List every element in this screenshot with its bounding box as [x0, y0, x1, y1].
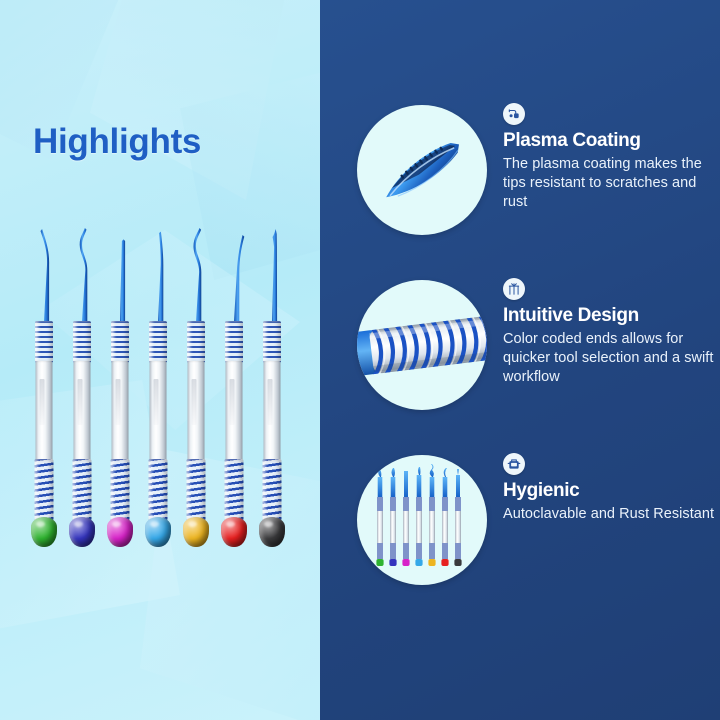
- instrument-row: [30, 225, 295, 570]
- feature-title: Plasma Coating: [503, 130, 715, 152]
- instrument-lower-collar: [263, 459, 282, 521]
- feature-hygienic: Hygienic Autoclavable and Rust Resistant: [320, 455, 720, 605]
- instrument-upper-collar: [111, 321, 129, 363]
- feature-text-block: Hygienic Autoclavable and Rust Resistant: [503, 453, 715, 524]
- photo-knurled-handle: [357, 280, 487, 410]
- instrument-lower-collar: [149, 459, 168, 521]
- left-panel: Highlights: [0, 0, 320, 720]
- instrument-tip: [115, 225, 126, 325]
- instrument-color-cap: [221, 517, 247, 547]
- instrument-shaft: [188, 361, 205, 461]
- feature-description: Autoclavable and Rust Resistant: [503, 505, 715, 524]
- instrument-lower-collar: [111, 459, 130, 521]
- photo-instrument-set: [357, 455, 487, 585]
- instrument-lower-collar: [225, 459, 244, 521]
- infographic-canvas: Highlights: [0, 0, 720, 720]
- instrument-shaft: [150, 361, 167, 461]
- instrument-lower-collar: [73, 459, 92, 521]
- feature-title: Hygienic: [503, 480, 715, 502]
- instrument-black: [258, 225, 286, 570]
- instrument-upper-collar: [263, 321, 281, 363]
- instrument-tip: [39, 225, 50, 325]
- instrument-shaft: [112, 361, 129, 461]
- feature-text-block: Plasma Coating The plasma coating makes …: [503, 103, 715, 211]
- instrument-upper-collar: [149, 321, 167, 363]
- instrument-tip: [229, 225, 240, 325]
- instrument-shaft: [226, 361, 243, 461]
- instrument-green: [30, 225, 58, 570]
- instrument-color-cap: [107, 517, 133, 547]
- feature-description: Color coded ends allows for quicker tool…: [503, 330, 715, 387]
- feature-description: The plasma coating makes the tips resist…: [503, 155, 715, 212]
- instrument-upper-collar: [187, 321, 205, 363]
- feature-text-block: Intuitive Design Color coded ends allows…: [503, 278, 715, 386]
- instrument-blue: [68, 225, 96, 570]
- instrument-red: [220, 225, 248, 570]
- instrument-color-cap: [145, 517, 171, 547]
- instrument-cyan: [144, 225, 172, 570]
- instrument-shaft: [264, 361, 281, 461]
- feature-title: Intuitive Design: [503, 305, 715, 327]
- instrument-color-cap: [69, 517, 95, 547]
- instrument-upper-collar: [35, 321, 53, 363]
- feature-intuitive-design: Intuitive Design Color coded ends allows…: [320, 280, 720, 430]
- instrument-color-cap: [31, 517, 57, 547]
- instrument-tip: [191, 225, 202, 325]
- page-title: Highlights: [33, 122, 201, 162]
- instrument-gold: [182, 225, 210, 570]
- autoclave-icon: [503, 453, 525, 475]
- instrument-lower-collar: [35, 459, 54, 521]
- instrument-magenta: [106, 225, 134, 570]
- instrument-upper-collar: [73, 321, 91, 363]
- instrument-tip: [267, 225, 278, 325]
- instrument-tip: [153, 225, 164, 325]
- instrument-tip: [77, 225, 88, 325]
- instrument-lower-collar: [187, 459, 206, 521]
- instrument-color-cap: [183, 517, 209, 547]
- instrument-shaft: [74, 361, 91, 461]
- right-panel: Plasma Coating The plasma coating makes …: [320, 0, 720, 720]
- photo-serrated-tweezer-tip: [357, 105, 487, 235]
- instrument-shaft: [36, 361, 53, 461]
- feature-plasma-coating: Plasma Coating The plasma coating makes …: [320, 105, 720, 255]
- plasma-spray-icon: [503, 103, 525, 125]
- dental-tools-icon: [503, 278, 525, 300]
- instrument-upper-collar: [225, 321, 243, 363]
- instrument-color-cap: [259, 517, 285, 547]
